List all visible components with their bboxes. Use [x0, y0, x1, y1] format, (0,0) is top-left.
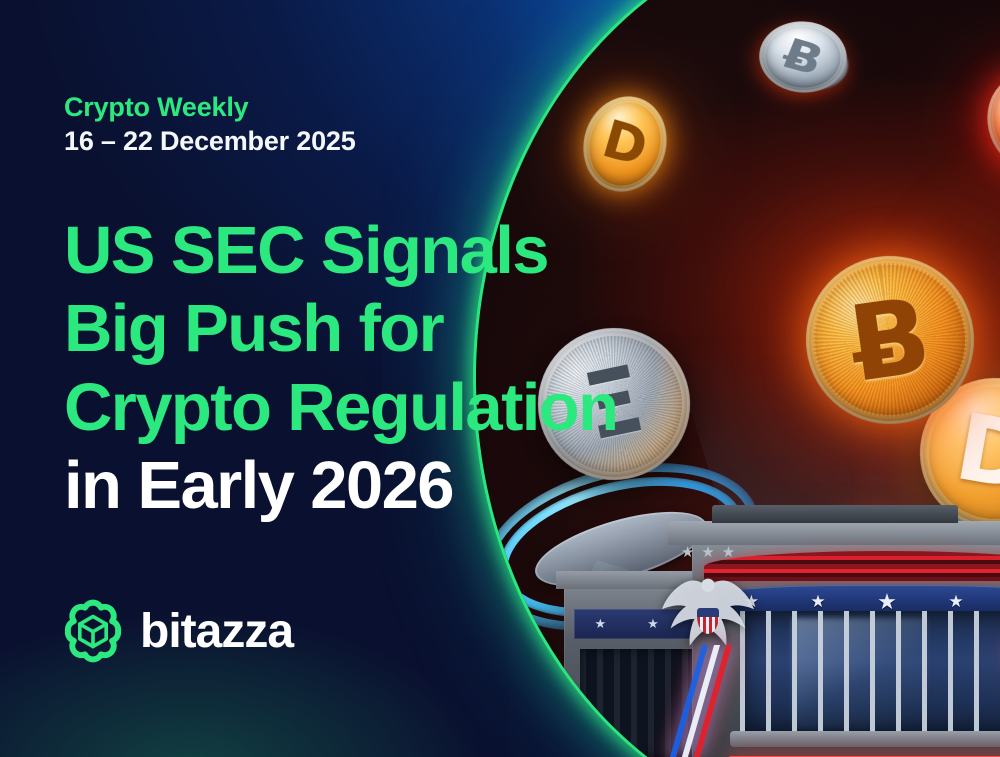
- headline-line-3: Crypto Regulation: [64, 369, 704, 447]
- date-range-label: 16 – 22 December 2025: [64, 126, 356, 157]
- star-icon: ★: [647, 616, 659, 632]
- headline-line-1: US SEC Signals: [64, 212, 704, 290]
- bitazza-wordmark: bitazza: [140, 604, 293, 659]
- bitcoin-coin-silver: Ƀ: [748, 12, 858, 103]
- star-icon: ★: [722, 543, 735, 561]
- building-roof-upper: [712, 505, 958, 523]
- bitazza-logo: bitazza: [60, 598, 293, 664]
- window-bars: [740, 611, 1000, 735]
- window-sill: [730, 731, 1000, 747]
- star-icon: ★: [701, 543, 714, 561]
- star-icon: ★: [810, 592, 825, 612]
- star-icon: ★: [595, 616, 607, 632]
- eagle-left-stars: ★ ★ ★: [660, 541, 756, 563]
- headline-line-2: Big Push for: [64, 290, 704, 368]
- building-window: [740, 611, 1000, 735]
- bitazza-flower-cube-logo-icon: [60, 598, 126, 664]
- headline-line-4: in Early 2026: [64, 447, 704, 525]
- bitcoin-symbol: Ƀ: [844, 283, 937, 397]
- page-title: US SEC Signals Big Push for Crypto Regul…: [64, 212, 704, 526]
- kicker-label: Crypto Weekly: [64, 92, 248, 123]
- star-icon: ★: [948, 592, 963, 612]
- dogecoin-coin-gold: D: [572, 87, 677, 202]
- crypto-weekly-banner: Ƀ Ξ D Ξ: [0, 0, 1000, 757]
- star-icon: ★: [681, 543, 694, 561]
